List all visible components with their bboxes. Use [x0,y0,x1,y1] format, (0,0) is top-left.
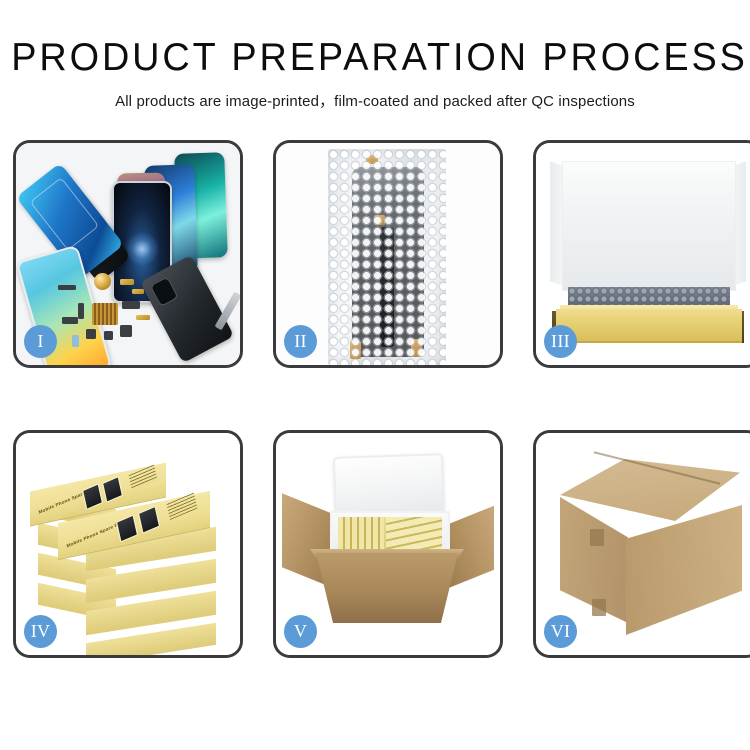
bubble-wrap-sleeve [328,149,446,365]
small-part-11 [136,315,150,320]
box-spec-text-a [129,465,158,491]
page-subtitle: All products are image-printed，film-coat… [6,89,745,111]
small-part-4 [78,303,84,319]
box-spec-text-b [167,493,198,521]
box-window-b2 [138,506,160,534]
kraft-box-front [556,309,742,343]
foam-lid [562,161,736,291]
page-title: PRODUCT PREPARATION PROCESS [11,38,739,78]
process-step-grid: I II [13,140,743,658]
step-badge-5: V [284,615,317,648]
process-step-panel-3[interactable]: III [533,140,750,368]
carton-body [316,553,458,623]
small-part-2 [120,279,134,285]
small-part-3 [132,289,144,294]
step-badge-2: II [284,325,317,358]
step-badge-4: IV [24,615,57,648]
small-part-10 [72,335,79,347]
process-step-panel-1[interactable]: I [13,140,243,368]
tape-bottom-right [411,339,422,357]
small-part-9 [120,325,132,337]
small-part-1 [58,285,76,290]
speaker-part-icon [94,273,111,290]
process-step-panel-2[interactable]: II [273,140,503,368]
process-step-panel-6[interactable]: VI [533,430,750,658]
carton-tape-lower [592,599,606,616]
small-part-7 [86,329,96,339]
tape-bottom-left [350,341,361,359]
box-window-a2 [102,476,123,503]
step-badge-3: III [544,325,577,358]
page-header: PRODUCT PREPARATION PROCESS All products… [0,0,750,111]
small-part-6 [62,317,78,324]
box-window-a1 [82,483,103,510]
box-window-b1 [116,514,138,542]
small-part-5 [122,301,140,309]
flex-cable [380,227,394,347]
process-step-panel-4[interactable]: Mobile Phone Spare Parts Mobile Phone Sp… [13,430,243,658]
tape-mid [374,215,385,225]
process-step-panel-5[interactable]: V [273,430,503,658]
connector-board-icon [92,303,118,325]
tape-top [366,155,378,164]
step-badge-6: VI [544,615,577,648]
small-part-8 [104,331,113,340]
carton-tape-upper [590,529,604,546]
step-badge-1: I [24,325,57,358]
